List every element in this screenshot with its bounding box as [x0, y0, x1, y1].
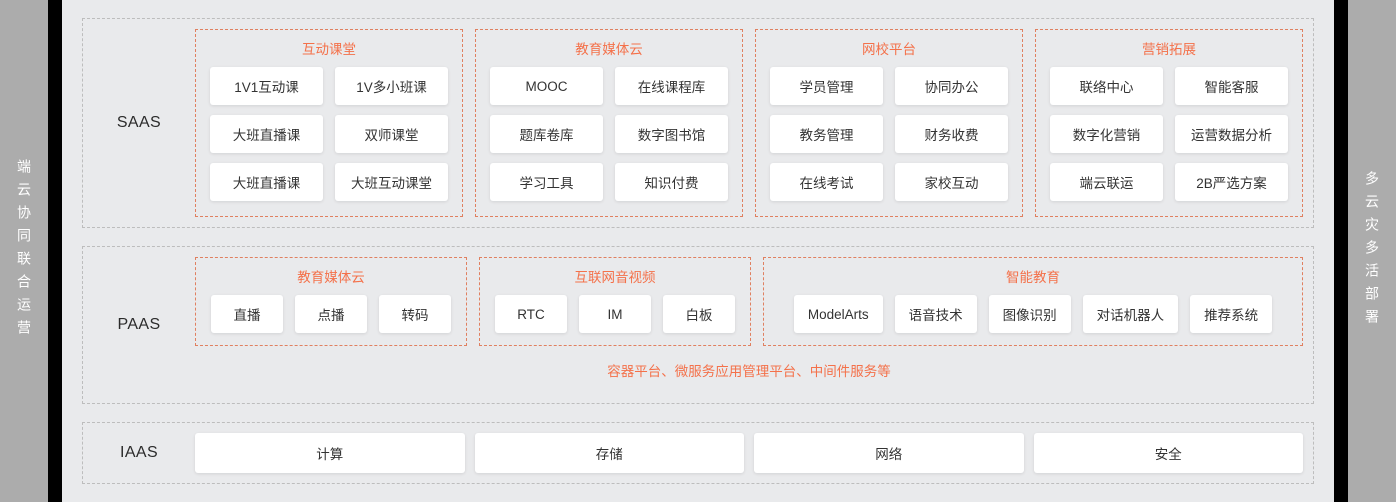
right-rail-label: 多云灾多活部署	[1365, 171, 1379, 332]
tier-iaas: IAAS 计算 存储 网络 安全	[82, 422, 1314, 484]
tile-item[interactable]: 大班直播课	[210, 115, 323, 153]
saas-group-education-media-cloud: 教育媒体云 MOOC 在线课程库 题库卷库 数字图书馆 学习工具 知识付费	[475, 29, 743, 217]
saas-group-online-school-platform: 网校平台 学员管理 协同办公 教务管理 财务收费 在线考试 家校互动	[755, 29, 1023, 217]
paas-group-intelligent-education: 智能教育 ModelArts 语音技术 图像识别 对话机器人 推荐系统	[763, 257, 1303, 346]
tile-item[interactable]: 2B严选方案	[1175, 163, 1288, 201]
tile-item[interactable]: 智能客服	[1175, 67, 1288, 105]
saas-group-list: 互动课堂 1V1互动课 1V多小班课 大班直播课 双师课堂 大班直播课 大班互动…	[195, 19, 1313, 227]
tile-item[interactable]: 数字图书馆	[615, 115, 728, 153]
group-title: 互联网音视频	[575, 266, 656, 286]
tile-item[interactable]: 财务收费	[895, 115, 1008, 153]
left-rail: 端云协同联合运营	[0, 0, 62, 502]
tile-item[interactable]: 协同办公	[895, 67, 1008, 105]
tile-grid: 联络中心 智能客服 数字化营销 运营数据分析 端云联运 2B严选方案	[1050, 67, 1288, 201]
tile-item[interactable]: 双师课堂	[335, 115, 448, 153]
tier-saas: SAAS 互动课堂 1V1互动课 1V多小班课 大班直播课 双师课堂 大班直播课…	[82, 18, 1314, 228]
tile-item[interactable]: MOOC	[490, 67, 603, 105]
tier-paas-label: PAAS	[83, 247, 195, 403]
tile-item[interactable]: 教务管理	[770, 115, 883, 153]
main-content: SAAS 互动课堂 1V1互动课 1V多小班课 大班直播课 双师课堂 大班直播课…	[62, 0, 1334, 502]
tile-item[interactable]: 直播	[211, 295, 283, 333]
tile-grid: MOOC 在线课程库 题库卷库 数字图书馆 学习工具 知识付费	[490, 67, 728, 201]
saas-group-marketing-expansion: 营销拓展 联络中心 智能客服 数字化营销 运营数据分析 端云联运 2B严选方案	[1035, 29, 1303, 217]
iaas-tile-row: 计算 存储 网络 安全	[195, 423, 1313, 483]
tile-item[interactable]: 大班互动课堂	[335, 163, 448, 201]
tier-iaas-label: IAAS	[83, 423, 195, 483]
tile-item[interactable]: 知识付费	[615, 163, 728, 201]
group-title: 互动课堂	[302, 38, 356, 58]
paas-footnote: 容器平台、微服务应用管理平台、中间件服务等	[195, 346, 1313, 380]
tile-item[interactable]: 存储	[475, 433, 745, 473]
tier-saas-label: SAAS	[83, 19, 195, 227]
tile-item[interactable]: 转码	[379, 295, 451, 333]
tile-item[interactable]: 大班直播课	[210, 163, 323, 201]
paas-group-list: 教育媒体云 直播 点播 转码 互联网音视频 RTC IM 白板	[195, 247, 1313, 346]
tile-item[interactable]: 1V多小班课	[335, 67, 448, 105]
tile-item[interactable]: 图像识别	[989, 295, 1071, 333]
tile-item[interactable]: 1V1互动课	[210, 67, 323, 105]
tile-item[interactable]: 语音技术	[895, 295, 977, 333]
tier-saas-body: 互动课堂 1V1互动课 1V多小班课 大班直播课 双师课堂 大班直播课 大班互动…	[195, 19, 1313, 227]
tile-item[interactable]: ModelArts	[794, 295, 883, 333]
right-rail-band: 多云灾多活部署	[1348, 0, 1396, 502]
tile-item[interactable]: 联络中心	[1050, 67, 1163, 105]
paas-group-education-media-cloud: 教育媒体云 直播 点播 转码	[195, 257, 467, 346]
tile-item[interactable]: RTC	[495, 295, 567, 333]
tile-item[interactable]: 推荐系统	[1190, 295, 1272, 333]
tile-row: ModelArts 语音技术 图像识别 对话机器人 推荐系统	[794, 295, 1272, 333]
tile-item[interactable]: 学习工具	[490, 163, 603, 201]
left-rail-label: 端云协同联合运营	[17, 159, 31, 343]
tile-item[interactable]: 计算	[195, 433, 465, 473]
tile-item[interactable]: 在线考试	[770, 163, 883, 201]
tile-item[interactable]: 家校互动	[895, 163, 1008, 201]
group-title: 教育媒体云	[297, 266, 365, 286]
group-title: 智能教育	[1006, 266, 1060, 286]
tile-item[interactable]: 对话机器人	[1083, 295, 1179, 333]
architecture-diagram: 端云协同联合运营 SAAS 互动课堂 1V1互动课 1V多小班课 大班直播课 双…	[0, 0, 1396, 502]
tile-item[interactable]: 端云联运	[1050, 163, 1163, 201]
tile-item[interactable]: 运营数据分析	[1175, 115, 1288, 153]
tier-paas: PAAS 教育媒体云 直播 点播 转码 互联网音视频 RTC	[82, 246, 1314, 404]
left-rail-divider	[48, 0, 62, 502]
right-rail: 多云灾多活部署	[1334, 0, 1396, 502]
tile-row: 直播 点播 转码	[211, 295, 451, 333]
group-title: 网校平台	[862, 38, 916, 58]
tile-grid: 学员管理 协同办公 教务管理 财务收费 在线考试 家校互动	[770, 67, 1008, 201]
tile-item[interactable]: 题库卷库	[490, 115, 603, 153]
tile-item[interactable]: 点播	[295, 295, 367, 333]
tile-row: RTC IM 白板	[495, 295, 735, 333]
tile-item[interactable]: 网络	[754, 433, 1024, 473]
tile-item[interactable]: 数字化营销	[1050, 115, 1163, 153]
tile-item[interactable]: 安全	[1034, 433, 1304, 473]
group-title: 教育媒体云	[575, 38, 643, 58]
paas-group-internet-audio-video: 互联网音视频 RTC IM 白板	[479, 257, 751, 346]
saas-group-interactive-classroom: 互动课堂 1V1互动课 1V多小班课 大班直播课 双师课堂 大班直播课 大班互动…	[195, 29, 463, 217]
tile-grid: 1V1互动课 1V多小班课 大班直播课 双师课堂 大班直播课 大班互动课堂	[210, 67, 448, 201]
tile-item[interactable]: 学员管理	[770, 67, 883, 105]
tile-item[interactable]: IM	[579, 295, 651, 333]
left-rail-band: 端云协同联合运营	[0, 0, 48, 502]
tile-item[interactable]: 白板	[663, 295, 735, 333]
group-title: 营销拓展	[1142, 38, 1196, 58]
tier-paas-body: 教育媒体云 直播 点播 转码 互联网音视频 RTC IM 白板	[195, 247, 1313, 403]
tile-item[interactable]: 在线课程库	[615, 67, 728, 105]
right-rail-divider	[1334, 0, 1348, 502]
